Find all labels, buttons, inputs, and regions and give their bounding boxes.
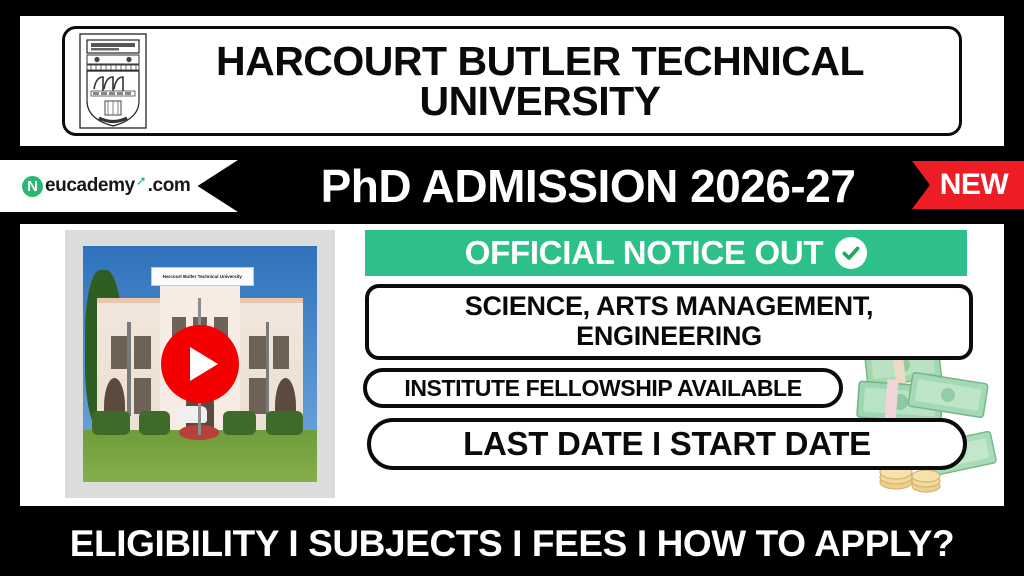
photo-hedge [139, 411, 169, 435]
main-panel: Harcourt Butler Technical University [20, 224, 1004, 506]
headline-bar: N eucademy ➚ .com PhD ADMISSION 2026-27 … [0, 152, 1024, 220]
university-title-box: HARCOURT BUTLER TECHNICAL UNIVERSITY [62, 26, 962, 136]
official-notice-banner: OFFICIAL NOTICE OUT [365, 230, 967, 276]
photo-hedge [266, 411, 303, 435]
play-triangle [190, 347, 218, 381]
footer-bar: ELIGIBILITY I SUBJECTS I FEES I HOW TO A… [0, 512, 1024, 576]
university-building-photo[interactable]: Harcourt Butler Technical University [65, 230, 335, 498]
university-crest-icon [79, 33, 147, 129]
brand-name: eucademy [45, 175, 135, 197]
play-button-icon[interactable] [161, 325, 239, 403]
photo-hedge [92, 411, 129, 435]
brand-logo[interactable]: N eucademy ➚ .com [0, 160, 238, 212]
photo-image: Harcourt Butler Technical University [83, 246, 317, 482]
photo-window [134, 378, 150, 413]
photo-window [249, 336, 265, 369]
photo-window [134, 336, 150, 369]
photo-car [177, 406, 207, 423]
photo-window [249, 378, 265, 413]
fellowship-box: INSTITUTE FELLOWSHIP AVAILABLE [363, 368, 843, 408]
photo-building-sign: Harcourt Butler Technical University [151, 267, 254, 286]
thumbnail-canvas: HARCOURT BUTLER TECHNICAL UNIVERSITY N e… [0, 0, 1024, 576]
photo-window [111, 336, 127, 369]
new-badge: NEW [912, 161, 1024, 209]
dates-box: LAST DATE I START DATE [367, 418, 967, 470]
footer-text: ELIGIBILITY I SUBJECTS I FEES I HOW TO A… [70, 523, 955, 565]
subjects-box: SCIENCE, ARTS MANAGEMENT, ENGINEERING [365, 284, 973, 360]
photo-hedge [223, 411, 256, 435]
official-notice-label: OFFICIAL NOTICE OUT [465, 234, 824, 272]
photo-lamp-post [127, 322, 131, 416]
page-title: PhD ADMISSION 2026-27 [258, 152, 918, 220]
info-list: OFFICIAL NOTICE OUT SCIENCE, ARTS MANAGE… [355, 224, 995, 506]
check-circle-icon [835, 237, 867, 269]
growth-arrow-icon: ➚ [136, 173, 147, 189]
university-title-panel: HARCOURT BUTLER TECHNICAL UNIVERSITY [20, 16, 1004, 146]
university-name: HARCOURT BUTLER TECHNICAL UNIVERSITY [147, 41, 959, 121]
photo-window [273, 336, 289, 369]
brand-tld: .com [148, 175, 191, 197]
brand-monogram-icon: N [22, 176, 43, 197]
photo-lamp-post [266, 322, 270, 416]
brand-logo-inner: N eucademy ➚ .com [22, 175, 190, 197]
